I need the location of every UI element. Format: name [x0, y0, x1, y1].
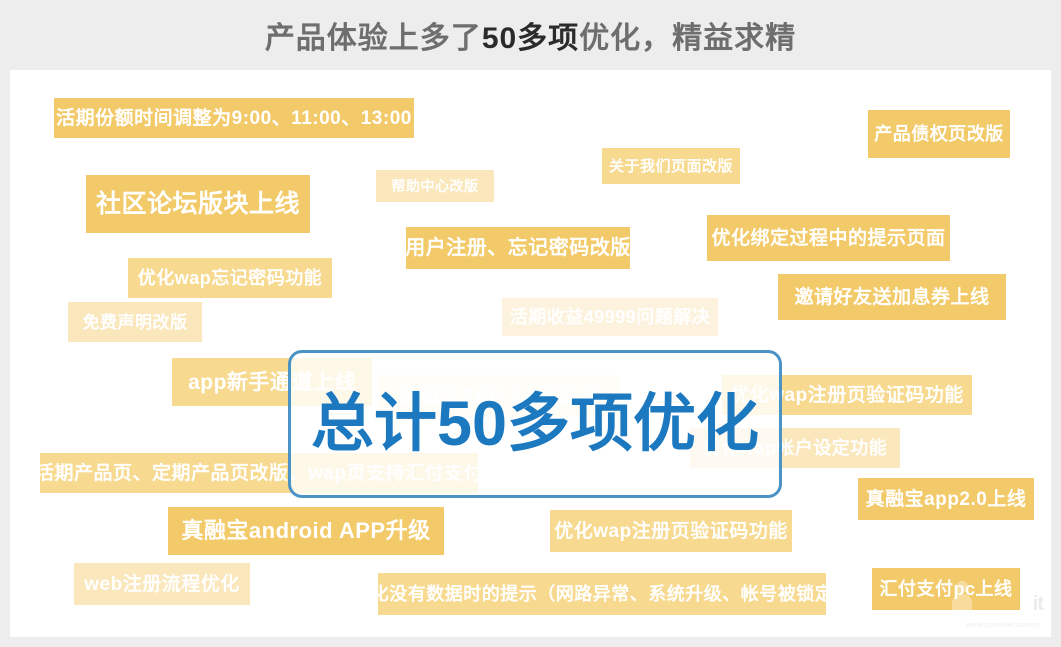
page-title-suffix: 优化，精益求精 [579, 22, 796, 55]
tag-item[interactable]: 真融宝app2.0上线 [858, 478, 1034, 520]
slide-root: 产品体验上多了50多项优化，精益求精 活期份额时间调整为9:00、11:00、1… [0, 0, 1061, 647]
tag-cloud-panel: 活期份额时间调整为9:00、11:00、13:00社区论坛版块上线帮助中心改版关… [10, 70, 1051, 637]
tag-item[interactable]: 优化wap忘记密码功能 [128, 258, 332, 298]
tag-item[interactable]: 邀请好友送加息券上线 [778, 274, 1006, 320]
watermark-subtext: www.pconline.com.cn [966, 622, 1041, 629]
page-title-prefix: 产品体验上多了 [265, 22, 482, 55]
tag-item[interactable]: 活期份额时间调整为9:00、11:00、13:00 [54, 98, 414, 138]
page-title: 产品体验上多了50多项优化，精益求精 [265, 13, 796, 57]
tag-item[interactable]: 活期收益49999问题解决 [502, 298, 718, 336]
center-callout-frame: 总计50多项优化 [288, 350, 782, 498]
center-callout-text: 总计50多项优化 [311, 393, 759, 456]
person-icon [949, 581, 975, 621]
tag-item[interactable]: 用户注册、忘记密码改版 [406, 227, 630, 269]
tag-item[interactable]: 免费声明改版 [68, 302, 202, 342]
tag-item[interactable]: 社区论坛版块上线 [86, 175, 310, 233]
person-head-icon [956, 581, 968, 593]
slide-header: 产品体验上多了50多项优化，精益求精 [0, 0, 1061, 70]
tag-item[interactable]: web注册流程优化 [74, 563, 250, 605]
watermark-text: it [1033, 593, 1043, 616]
page-title-highlight: 50多项 [482, 22, 579, 55]
watermark: it www.pconline.com.cn [933, 581, 1043, 633]
tag-item[interactable]: 帮助中心改版 [376, 170, 494, 202]
tag-item[interactable]: 优化绑定过程中的提示页面 [707, 215, 950, 261]
tag-item[interactable]: 优化wap注册页验证码功能 [550, 510, 792, 552]
tag-item[interactable]: 真融宝android APP升级 [168, 507, 444, 555]
person-body-icon [952, 594, 972, 620]
tag-item[interactable]: 关于我们页面改版 [602, 148, 740, 184]
tag-item[interactable]: 产品债权页改版 [868, 110, 1010, 158]
tag-item[interactable]: 优化没有数据时的提示（网路异常、系统升级、帐号被锁定） [378, 573, 826, 615]
